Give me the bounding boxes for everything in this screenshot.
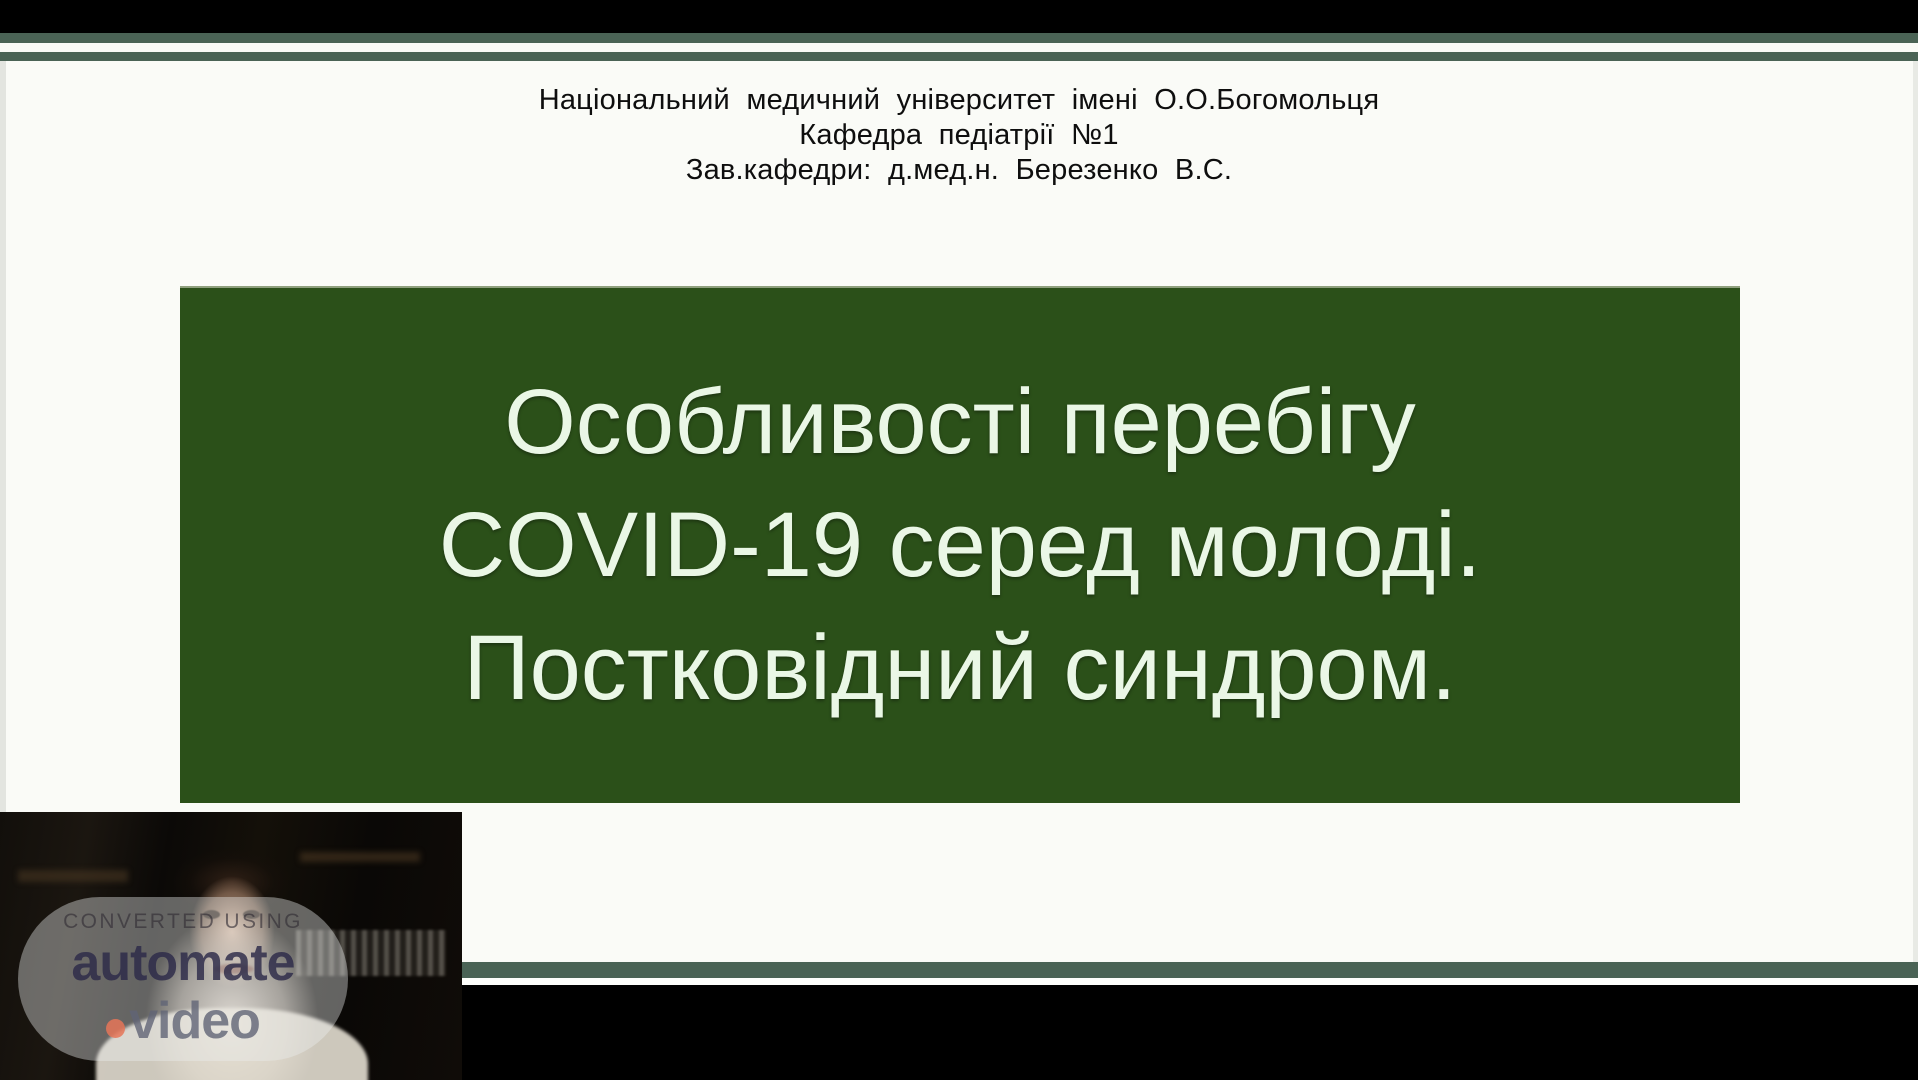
title-line-3: Постковідний синдром. xyxy=(463,607,1456,730)
top-band-gap xyxy=(0,43,1918,52)
webcam-scene xyxy=(0,812,462,1080)
top-band-thick-rule xyxy=(0,33,1918,43)
webcam-presenter-collar xyxy=(96,1008,368,1080)
title-line-2: COVID-19 серед молоді. xyxy=(439,484,1482,607)
title-line-1: Особливості перебігу xyxy=(504,361,1416,484)
header-line-department: Кафедра педіатрії №1 xyxy=(0,118,1918,153)
webcam-presenter-eye-left xyxy=(203,910,220,919)
video-player-stage: Національний медичний університет імені … xyxy=(0,0,1918,1080)
header-line-university: Національний медичний університет імені … xyxy=(0,83,1918,118)
top-band-thin-rule xyxy=(0,52,1918,61)
slide-top-decorative-band xyxy=(0,33,1918,62)
slide-title-panel: Особливості перебігу COVID-19 серед моло… xyxy=(180,286,1740,803)
slide-header-block: Національний медичний університет імені … xyxy=(0,83,1918,188)
webcam-presenter-eye-right xyxy=(243,910,260,919)
webcam-background-texture xyxy=(296,930,446,976)
presenter-webcam-pip[interactable]: CONVERTED USING automate video xyxy=(0,812,462,1080)
header-line-head-of-department: Зав.кафедри: д.мед.н. Березенко В.С. xyxy=(0,153,1918,188)
webcam-presenter-mouth xyxy=(214,964,254,974)
